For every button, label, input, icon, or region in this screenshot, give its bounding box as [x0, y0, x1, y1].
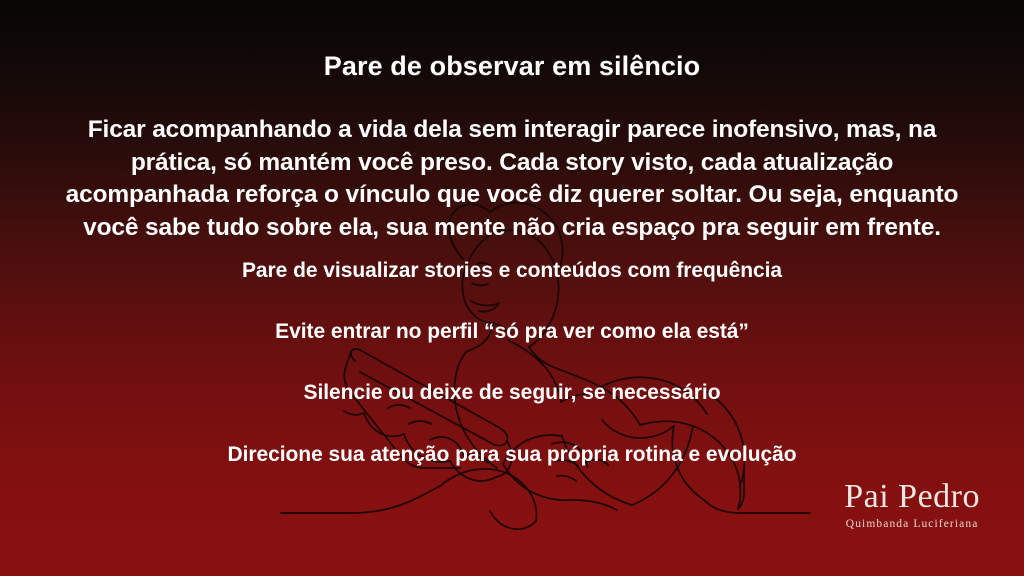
list-item: Silencie ou deixe de seguir, se necessár…: [40, 380, 984, 405]
brand-name: Pai Pedro: [844, 480, 980, 514]
page-title: Pare de observar em silêncio: [0, 52, 1024, 82]
list-item: Evite entrar no perfil “só pra ver como …: [40, 319, 984, 344]
list-item: Direcione sua atenção para sua própria r…: [40, 442, 984, 467]
advice-list: Pare de visualizar stories e conteúdos c…: [40, 258, 984, 467]
slide-canvas: Pare de observar em silêncio Ficar acomp…: [0, 0, 1024, 576]
list-item: Pare de visualizar stories e conteúdos c…: [40, 258, 984, 283]
brand-logo: Pai Pedro Quimbanda Luciferiana: [844, 480, 980, 531]
brand-tagline: Quimbanda Luciferiana: [844, 519, 980, 531]
body-paragraph: Ficar acompanhando a vida dela sem inter…: [62, 114, 962, 244]
